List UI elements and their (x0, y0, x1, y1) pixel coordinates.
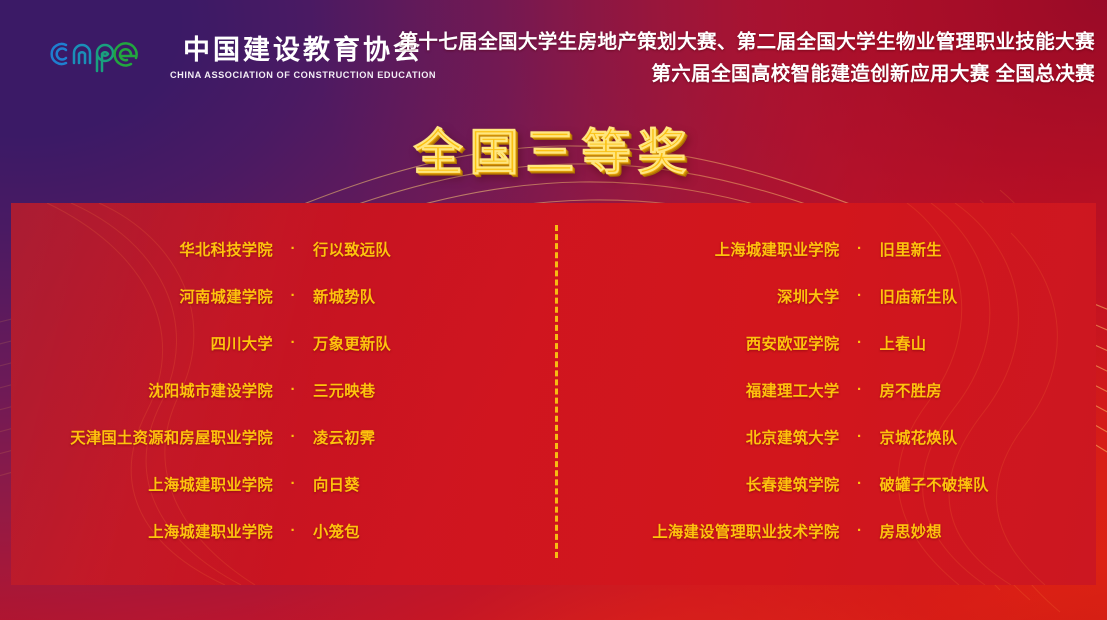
team-name: 行以致远队 (313, 238, 554, 260)
separator-dot: · (273, 429, 313, 444)
school-name: 北京建筑大学 (592, 426, 840, 448)
table-row: 上海城建职业学院 · 向日葵 (11, 460, 554, 507)
table-row: 华北科技学院 · 行以致远队 (11, 225, 554, 272)
school-name: 深圳大学 (592, 285, 840, 307)
cace-logo-icon (38, 34, 156, 74)
table-row: 北京建筑大学 · 京城花焕队 (554, 413, 1097, 460)
team-name: 小笼包 (313, 520, 554, 542)
school-name: 长春建筑学院 (592, 473, 840, 495)
school-name: 上海城建职业学院 (592, 238, 840, 260)
separator-dot: · (273, 382, 313, 397)
winners-grid: 华北科技学院 · 行以致远队 河南城建学院 · 新城势队 四川大学 · 万象更新… (11, 203, 1096, 585)
separator-dot: · (273, 241, 313, 256)
table-row: 上海建设管理职业技术学院 · 房思妙想 (554, 507, 1097, 554)
table-row: 上海城建职业学院 · 旧里新生 (554, 225, 1097, 272)
winners-panel: 华北科技学院 · 行以致远队 河南城建学院 · 新城势队 四川大学 · 万象更新… (11, 203, 1096, 585)
separator-dot: · (273, 335, 313, 350)
separator-dot: · (273, 288, 313, 303)
team-name: 新城势队 (313, 285, 554, 307)
school-name: 福建理工大学 (592, 379, 840, 401)
separator-dot: · (840, 429, 880, 444)
table-row: 河南城建学院 · 新城势队 (11, 272, 554, 319)
school-name: 上海建设管理职业技术学院 (592, 520, 840, 542)
school-name: 四川大学 (11, 332, 273, 354)
table-row: 西安欧亚学院 · 上春山 (554, 319, 1097, 366)
team-name: 上春山 (880, 332, 1097, 354)
school-name: 上海城建职业学院 (11, 520, 273, 542)
separator-dot: · (840, 335, 880, 350)
school-name: 华北科技学院 (11, 238, 273, 260)
school-name: 沈阳城市建设学院 (11, 379, 273, 401)
separator-dot: · (273, 476, 313, 491)
winners-column-right: 上海城建职业学院 · 旧里新生 深圳大学 · 旧庙新生队 西安欧亚学院 · 上春… (554, 203, 1097, 585)
table-row: 福建理工大学 · 房不胜房 (554, 366, 1097, 413)
separator-dot: · (273, 523, 313, 538)
association-name-block: 中国建设教育协会 CHINA ASSOCIATION OF CONSTRUCTI… (170, 28, 436, 80)
association-name-en: CHINA ASSOCIATION OF CONSTRUCTION EDUCAT… (170, 70, 436, 80)
column-divider (555, 225, 558, 558)
school-name: 西安欧亚学院 (592, 332, 840, 354)
school-name: 上海城建职业学院 (11, 473, 273, 495)
separator-dot: · (840, 476, 880, 491)
event-title-line-1: 第十七届全国大学生房地产策划大赛、第二届全国大学生物业管理职业技能大赛 (398, 26, 1095, 58)
table-row: 长春建筑学院 · 破罐子不破摔队 (554, 460, 1097, 507)
team-name: 房不胜房 (880, 379, 1097, 401)
team-name: 万象更新队 (313, 332, 554, 354)
team-name: 三元映巷 (313, 379, 554, 401)
team-name: 京城花焕队 (880, 426, 1097, 448)
table-row: 深圳大学 · 旧庙新生队 (554, 272, 1097, 319)
team-name: 凌云初霁 (313, 426, 554, 448)
table-row: 四川大学 · 万象更新队 (11, 319, 554, 366)
team-name: 旧庙新生队 (880, 285, 1097, 307)
event-title-line-2: 第六届全国高校智能建造创新应用大赛 全国总决赛 (398, 58, 1095, 90)
separator-dot: · (840, 523, 880, 538)
team-name: 破罐子不破摔队 (880, 473, 1097, 495)
separator-dot: · (840, 288, 880, 303)
table-row: 上海城建职业学院 · 小笼包 (11, 507, 554, 554)
slide-root: 中国建设教育协会 CHINA ASSOCIATION OF CONSTRUCTI… (0, 0, 1107, 620)
table-row: 天津国土资源和房屋职业学院 · 凌云初霁 (11, 413, 554, 460)
separator-dot: · (840, 382, 880, 397)
award-title: 全国三等奖 (0, 113, 1107, 184)
table-row: 沈阳城市建设学院 · 三元映巷 (11, 366, 554, 413)
separator-dot: · (840, 241, 880, 256)
team-name: 旧里新生 (880, 238, 1097, 260)
winners-column-left: 华北科技学院 · 行以致远队 河南城建学院 · 新城势队 四川大学 · 万象更新… (11, 203, 554, 585)
team-name: 向日葵 (313, 473, 554, 495)
school-name: 天津国土资源和房屋职业学院 (11, 426, 273, 448)
team-name: 房思妙想 (880, 520, 1097, 542)
association-name-cn: 中国建设教育协会 (183, 28, 423, 67)
school-name: 河南城建学院 (11, 285, 273, 307)
slide-header: 中国建设教育协会 CHINA ASSOCIATION OF CONSTRUCTI… (0, 0, 1107, 105)
event-title-block: 第十七届全国大学生房地产策划大赛、第二届全国大学生物业管理职业技能大赛 第六届全… (398, 26, 1095, 90)
association-logo: 中国建设教育协会 CHINA ASSOCIATION OF CONSTRUCTI… (38, 28, 436, 80)
